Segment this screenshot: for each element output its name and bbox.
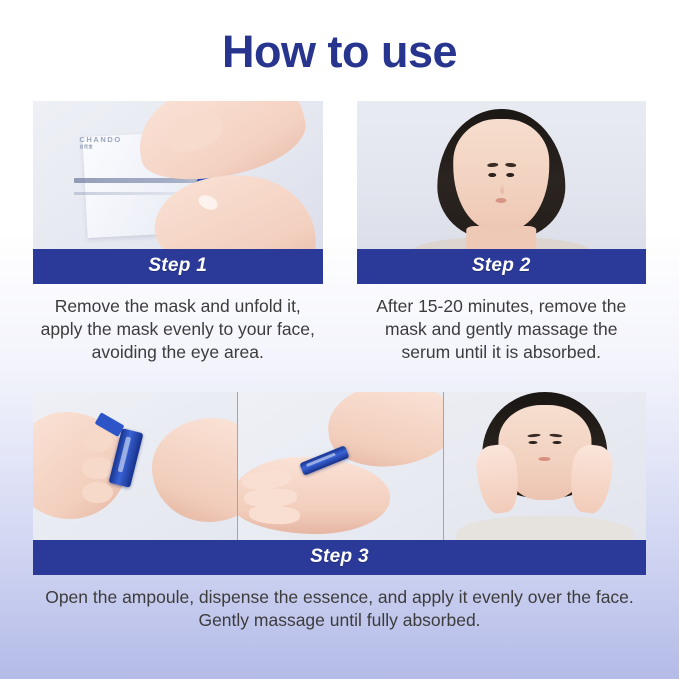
step-3-pane-2 bbox=[238, 392, 443, 540]
right-eye bbox=[552, 441, 561, 444]
step-1-description: Remove the mask and unfold it, apply the… bbox=[33, 284, 323, 364]
lips bbox=[539, 457, 551, 461]
white-top bbox=[456, 516, 634, 540]
step-3-pane-3 bbox=[444, 392, 646, 540]
step-3-description: Open the ampoule, dispense the essence, … bbox=[33, 575, 646, 633]
dispense-onto-palm-illustration bbox=[238, 392, 442, 540]
knuckle bbox=[82, 430, 113, 452]
face-massage-illustration bbox=[444, 392, 646, 540]
left-eyebrow bbox=[487, 163, 498, 167]
left-eyebrow bbox=[527, 434, 540, 438]
chando-brand-text: CHANDO 自然堂 bbox=[79, 135, 122, 150]
knuckle bbox=[82, 482, 113, 503]
left-eye bbox=[528, 441, 537, 444]
lips bbox=[496, 198, 507, 203]
sachet-opening-illustration: CHANDO 自然堂 bbox=[33, 101, 323, 249]
face bbox=[453, 119, 549, 230]
step-2-band: Step 2 bbox=[357, 249, 647, 284]
page-title: How to use bbox=[0, 0, 679, 75]
step-card-3: Step 3 Open the ampoule, dispense the es… bbox=[0, 392, 679, 633]
brand-subtext: 自然堂 bbox=[79, 144, 122, 150]
right-eyebrow bbox=[549, 434, 562, 438]
left-eye bbox=[488, 173, 496, 178]
brand-name: CHANDO bbox=[79, 135, 122, 144]
step-2-description: After 15-20 minutes, remove the mask and… bbox=[357, 284, 647, 364]
how-to-use-infographic: How to use CHANDO 自然堂 bbox=[0, 0, 679, 633]
nose bbox=[500, 183, 504, 194]
face-portrait-illustration bbox=[357, 101, 647, 249]
step-card-2: Step 2 After 15-20 minutes, remove the m… bbox=[357, 101, 647, 364]
steps-top-row: CHANDO 自然堂 Step 1 Remove the mask and un… bbox=[0, 101, 679, 364]
right-eyebrow bbox=[505, 163, 516, 167]
step-1-image: CHANDO 自然堂 bbox=[33, 101, 323, 249]
step-3-image-strip bbox=[33, 392, 646, 540]
step-1-band: Step 1 bbox=[33, 249, 323, 284]
step-2-image bbox=[357, 101, 647, 249]
step-3-band: Step 3 bbox=[33, 540, 646, 575]
step-card-1: CHANDO 自然堂 Step 1 Remove the mask and un… bbox=[33, 101, 323, 364]
right-eye bbox=[506, 173, 514, 178]
knuckle bbox=[82, 457, 113, 479]
ampoule-opening-illustration bbox=[33, 392, 237, 540]
step-3-pane-1 bbox=[33, 392, 238, 540]
